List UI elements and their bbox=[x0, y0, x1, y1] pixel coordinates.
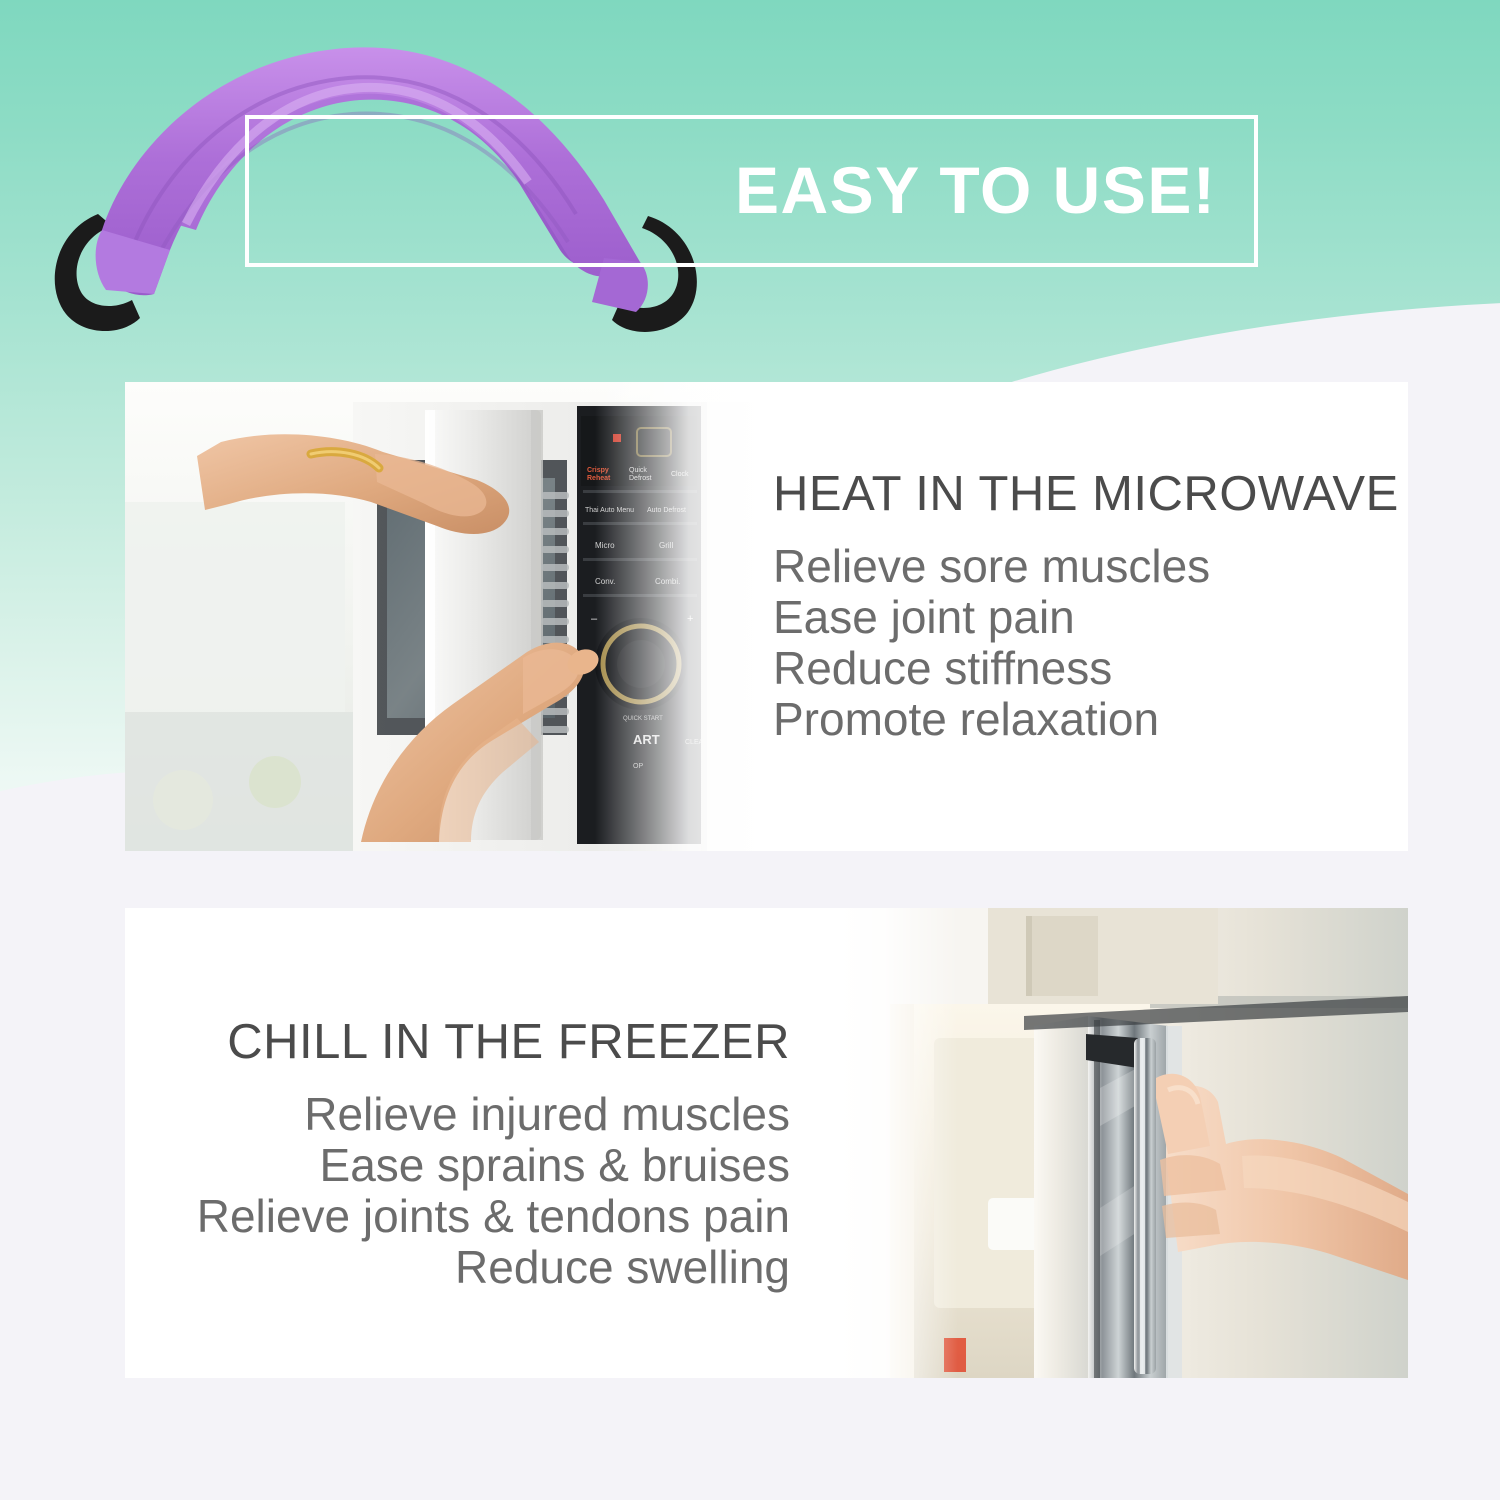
heat-benefit-2: Ease joint pain bbox=[773, 592, 1383, 643]
heat-benefit-4: Promote relaxation bbox=[773, 694, 1383, 745]
svg-text:ART: ART bbox=[633, 732, 660, 747]
svg-text:Grill: Grill bbox=[659, 541, 673, 550]
svg-text:Reheat: Reheat bbox=[587, 475, 611, 482]
svg-text:Defrost: Defrost bbox=[629, 475, 652, 482]
chill-benefit-2: Ease sprains & bruises bbox=[145, 1140, 790, 1191]
heat-copy-block: HEAT IN THE MICROWAVE Relieve sore muscl… bbox=[773, 470, 1383, 745]
svg-text:CLEAR: CLEAR bbox=[685, 739, 708, 746]
svg-text:Quick: Quick bbox=[629, 467, 647, 474]
chill-benefit-4: Reduce swelling bbox=[145, 1242, 790, 1293]
heat-benefit-1: Relieve sore muscles bbox=[773, 541, 1383, 592]
infographic-canvas: EASY TO USE! bbox=[0, 0, 1500, 1500]
chill-benefit-3: Relieve joints & tendons pain bbox=[145, 1191, 790, 1242]
chill-headline: CHILL IN THE FREEZER bbox=[145, 1018, 790, 1067]
svg-text:Combi.: Combi. bbox=[655, 577, 680, 586]
chill-benefit-1: Relieve injured muscles bbox=[145, 1089, 790, 1140]
svg-text:Thai Auto Menu: Thai Auto Menu bbox=[585, 507, 634, 514]
microwave-photo: Crispy Reheat Quick Defrost Clock Thai A… bbox=[125, 382, 765, 851]
svg-text:Auto Defrost: Auto Defrost bbox=[647, 507, 686, 514]
svg-text:Micro: Micro bbox=[595, 541, 615, 550]
chill-copy-block: CHILL IN THE FREEZER Relieve injured mus… bbox=[145, 1018, 790, 1293]
panel-heat-in-the-microwave: Crispy Reheat Quick Defrost Clock Thai A… bbox=[125, 382, 1408, 851]
freezer-photo bbox=[838, 908, 1408, 1378]
svg-text:–: – bbox=[591, 613, 598, 625]
svg-text:OP: OP bbox=[633, 763, 643, 770]
heat-headline: HEAT IN THE MICROWAVE bbox=[773, 470, 1383, 519]
easy-to-use-label: EASY TO USE! bbox=[735, 140, 1255, 240]
svg-text:Clock: Clock bbox=[671, 471, 689, 478]
heat-benefit-3: Reduce stiffness bbox=[773, 643, 1383, 694]
svg-text:Crispy: Crispy bbox=[587, 467, 609, 474]
svg-text:QUICK START: QUICK START bbox=[623, 716, 663, 722]
panel-chill-in-the-freezer: CHILL IN THE FREEZER Relieve injured mus… bbox=[125, 908, 1408, 1378]
microwave-control-panel: Crispy Reheat Quick Defrost Clock Thai A… bbox=[577, 406, 708, 844]
freezer-door bbox=[1034, 1016, 1182, 1378]
svg-text:+: + bbox=[687, 613, 693, 625]
svg-text:Conv.: Conv. bbox=[595, 577, 615, 586]
